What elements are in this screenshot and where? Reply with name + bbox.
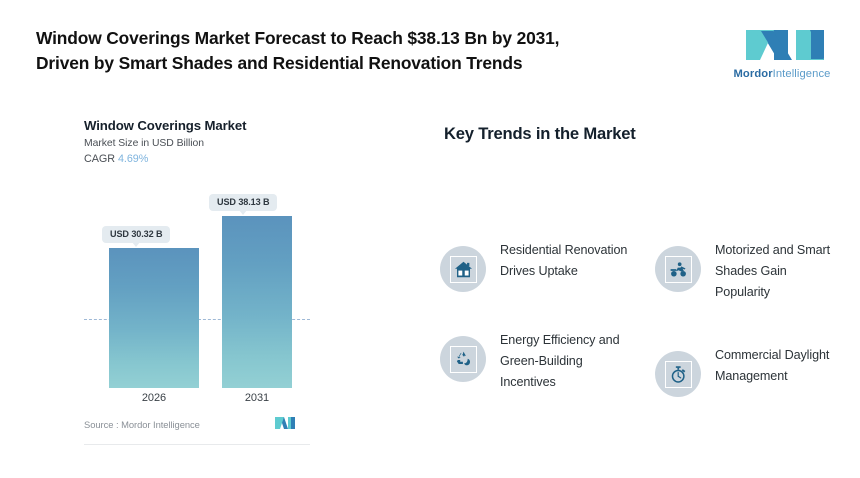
bar-2031 bbox=[222, 216, 292, 388]
trend-icon-circle bbox=[440, 246, 486, 292]
cagr-value: 4.69% bbox=[118, 153, 148, 165]
trend-label: Commercial Daylight Management bbox=[715, 339, 845, 387]
trend-label: Residential Renovation Drives Uptake bbox=[500, 234, 630, 282]
key-trends-section: Key Trends in the Market Residential Ren… bbox=[440, 124, 840, 424]
value-label-2031: USD 38.13 B bbox=[209, 194, 277, 211]
house-icon bbox=[450, 256, 477, 283]
brand-name-bold: Mordor bbox=[734, 68, 773, 80]
recycle-leaf-icon bbox=[450, 346, 477, 373]
chart-subtitle: Market Size in USD Billion bbox=[84, 138, 310, 149]
chart-cagr: CAGR 4.69% bbox=[84, 153, 310, 165]
trend-item-motorized-smart-shades: Motorized and Smart Shades Gain Populari… bbox=[655, 234, 845, 303]
panel-divider bbox=[84, 444, 310, 445]
bar-2026 bbox=[109, 248, 199, 388]
x-tick-2031: 2031 bbox=[222, 392, 292, 404]
x-tick-2026: 2026 bbox=[109, 392, 199, 404]
brand-logo: MordorIntelligence bbox=[730, 26, 834, 80]
chart-source-row: Source : Mordor Intelligence bbox=[84, 416, 310, 436]
mordor-intelligence-logo-icon bbox=[730, 26, 834, 64]
chart-panel: Window Coverings Market Market Size in U… bbox=[84, 118, 310, 430]
headline-line-2: Driven by Smart Shades and Residential R… bbox=[36, 51, 696, 76]
header: Window Coverings Market Forecast to Reac… bbox=[0, 0, 860, 104]
bar-chart-plot: USD 30.32 B USD 38.13 B bbox=[84, 192, 310, 388]
trend-item-residential-renovation: Residential Renovation Drives Uptake bbox=[440, 234, 630, 292]
stopwatch-icon bbox=[665, 361, 692, 388]
trend-icon-circle bbox=[655, 246, 701, 292]
headline-line-1: Window Coverings Market Forecast to Reac… bbox=[36, 28, 559, 48]
mordor-mark-icon bbox=[274, 416, 296, 430]
x-axis-labels: 2026 2031 bbox=[84, 392, 310, 410]
trend-icon-circle bbox=[440, 336, 486, 382]
brand-wordmark: MordorIntelligence bbox=[730, 68, 834, 80]
trend-icon-circle bbox=[655, 351, 701, 397]
trend-label: Energy Efficiency and Green-Building Inc… bbox=[500, 324, 630, 393]
source-text: Source : Mordor Intelligence bbox=[84, 419, 200, 430]
quad-bike-icon bbox=[665, 256, 692, 283]
trend-label: Motorized and Smart Shades Gain Populari… bbox=[715, 234, 845, 303]
trend-item-energy-efficiency: Energy Efficiency and Green-Building Inc… bbox=[440, 324, 630, 393]
chart-title: Window Coverings Market bbox=[84, 118, 310, 133]
value-label-2026: USD 30.32 B bbox=[102, 226, 170, 243]
key-trends-title: Key Trends in the Market bbox=[444, 124, 840, 144]
cagr-label: CAGR bbox=[84, 153, 115, 165]
page-title: Window Coverings Market Forecast to Reac… bbox=[36, 26, 696, 76]
trend-item-commercial-daylight: Commercial Daylight Management bbox=[655, 339, 845, 397]
brand-name-light: Intelligence bbox=[773, 68, 831, 80]
